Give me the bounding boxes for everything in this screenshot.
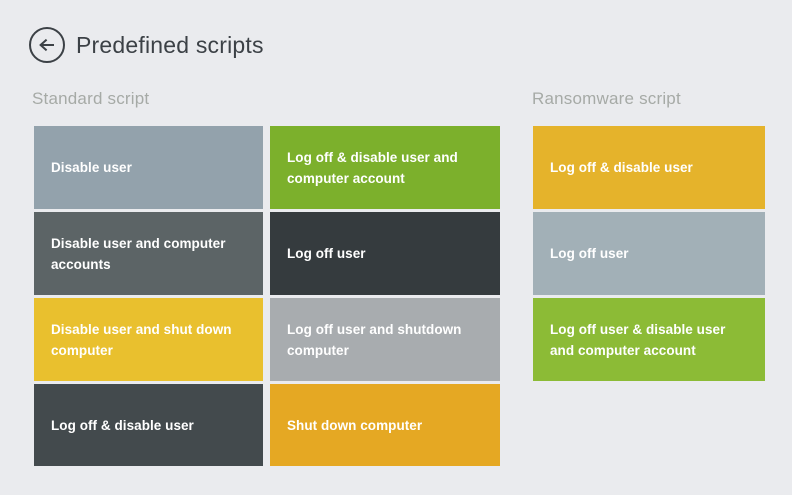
script-tile-label: Log off user & disable user and computer… xyxy=(550,319,748,361)
ransomware-tile-log-off-user-and-disable-user-and-computer-account[interactable]: Log off user & disable user and computer… xyxy=(533,298,765,381)
script-tile-label: Log off user and shutdown computer xyxy=(287,319,483,361)
script-tile-shut-down-computer[interactable]: Shut down computer xyxy=(270,384,500,466)
script-tile-log-off-user-and-shutdown-computer[interactable]: Log off user and shutdown computer xyxy=(270,298,500,381)
script-tile-disable-user[interactable]: Disable user xyxy=(34,126,263,209)
script-tile-label: Disable user and shut down computer xyxy=(51,319,246,361)
script-tile-label: Disable user xyxy=(51,157,132,178)
script-tile-label: Log off user xyxy=(550,243,629,264)
script-tile-label: Log off & disable user xyxy=(550,157,693,178)
script-tile-label: Log off user xyxy=(287,243,366,264)
script-tile-disable-user-and-shut-down-computer[interactable]: Disable user and shut down computer xyxy=(34,298,263,381)
ransomware-tile-log-off-user[interactable]: Log off user xyxy=(533,212,765,295)
script-tile-label: Log off & disable user and computer acco… xyxy=(287,147,483,189)
script-tile-label: Log off & disable user xyxy=(51,415,194,436)
script-tile-disable-user-and-computer-accounts[interactable]: Disable user and computer accounts xyxy=(34,212,263,295)
script-tile-log-off-and-disable-user-and-computer-account[interactable]: Log off & disable user and computer acco… xyxy=(270,126,500,209)
script-tile-label: Disable user and computer accounts xyxy=(51,233,246,275)
script-tile-log-off-and-disable-user[interactable]: Log off & disable user xyxy=(34,384,263,466)
script-tile-log-off-user[interactable]: Log off user xyxy=(270,212,500,295)
script-tile-grid: Disable user Disable user and computer a… xyxy=(0,0,792,495)
script-tile-label: Shut down computer xyxy=(287,415,422,436)
ransomware-tile-log-off-and-disable-user[interactable]: Log off & disable user xyxy=(533,126,765,209)
